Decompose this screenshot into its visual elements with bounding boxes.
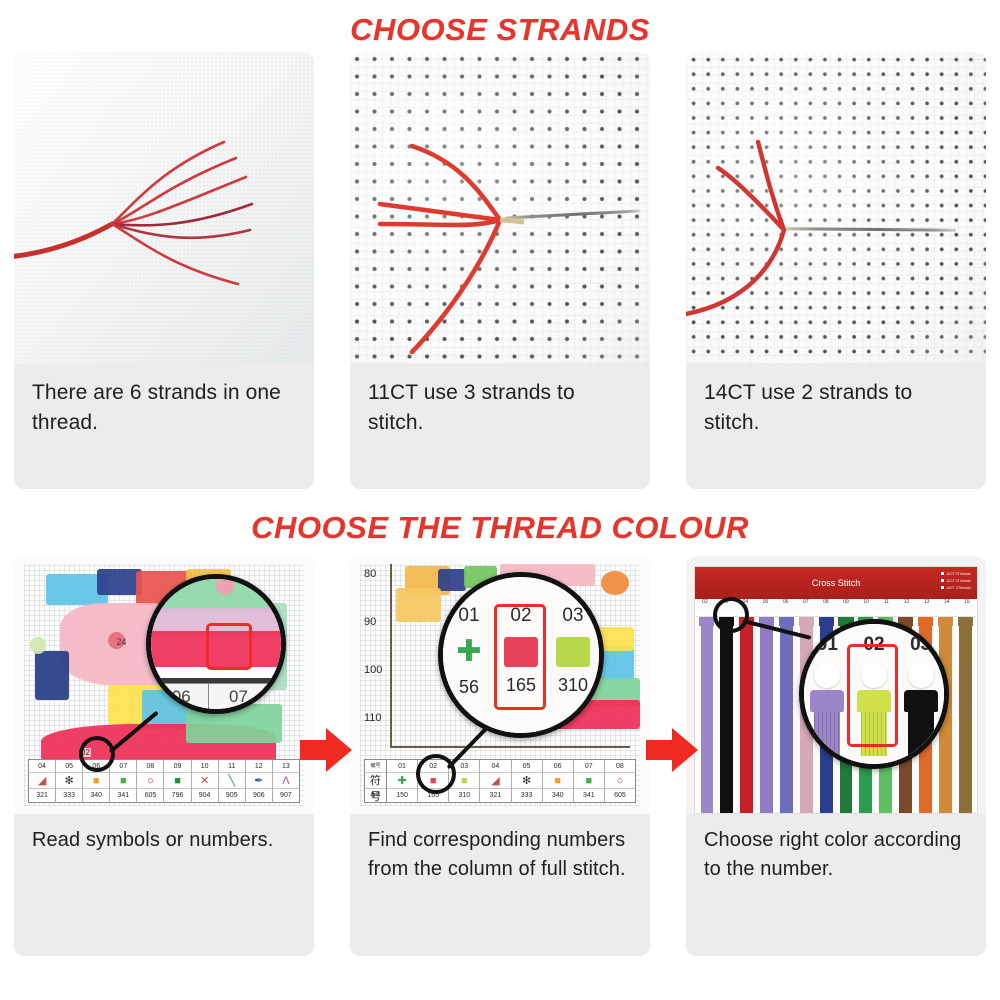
legend-dmc-code: 906	[246, 789, 272, 802]
legend-dmc-code: 333	[56, 789, 82, 802]
legend-number: 08	[137, 760, 163, 773]
magnified-label-07: 07	[229, 687, 248, 707]
legend-symbol: ■	[164, 773, 190, 789]
thread-organizer-photo: Cross Stitch 11CT 3Threads11CT 3Threads1…	[686, 556, 986, 814]
organizer-skein[interactable]	[698, 610, 717, 813]
magnifier-target-ring	[416, 754, 456, 794]
legend-column[interactable]: 04◢321	[480, 760, 511, 802]
organizer-legend-swatch	[941, 572, 944, 575]
legend-dmc-code: 333	[512, 789, 542, 802]
magnified-skein-number: 01	[804, 634, 851, 656]
magnified-legend-column[interactable]: 01✚56	[443, 599, 495, 733]
photo-thread-organizer-with-magnifier: Cross Stitch 11CT 3Threads11CT 3Threads1…	[686, 556, 986, 814]
legend-column[interactable]: 13Λ907	[273, 760, 299, 802]
legend-symbol: ◢	[480, 773, 510, 789]
organizer-skein-number[interactable]: 14	[937, 599, 957, 610]
legend-dmc-code: 341	[574, 789, 604, 802]
magnified-skein-number: 03	[897, 634, 944, 656]
magnified-skein-peg	[908, 662, 934, 688]
legend-row-headers: 编号符号色号	[365, 760, 387, 802]
legend-dmc-code: 605	[605, 789, 635, 802]
legend-column[interactable]: 08○605	[605, 760, 635, 802]
skein-threads	[760, 623, 773, 813]
photo-pattern-chart-with-magnifier: 24 02 04◢32105✻33306■34007■34108○60509■7…	[14, 556, 314, 814]
pattern-chart-photo: 24 02 04◢32105✻33306■34007■34108○60509■7…	[14, 556, 314, 814]
thread-organizer-card: Cross Stitch 11CT 3Threads11CT 3Threads1…	[694, 566, 978, 814]
organizer-legend-item: 11CT 3Threads	[941, 578, 971, 585]
magnifier-highlight-box	[206, 623, 253, 670]
legend-dmc-code: 321	[480, 789, 510, 802]
legend-column[interactable]: 06■340	[543, 760, 574, 802]
legend-dmc-code: 907	[273, 789, 299, 802]
legend-symbol: ✻	[56, 773, 82, 789]
photo-two-strands-needle-14ct-aida	[686, 52, 986, 364]
magnified-legend-symbol	[556, 637, 590, 667]
photo-three-strands-needle-11ct-aida	[350, 52, 650, 364]
chart-row-label: 110	[364, 712, 382, 724]
magnified-skein-threads	[814, 712, 840, 756]
organizer-skein-number[interactable]: 12	[896, 599, 916, 610]
card-find-numbers: 8090100110 编号符号色号01✚15002■16503■31004◢32…	[350, 556, 650, 956]
magnified-legend-number: 03	[547, 605, 599, 627]
photo-six-strands-on-plain-fabric	[14, 52, 314, 364]
legend-symbol: ■	[543, 773, 573, 789]
legend-symbol: ◢	[29, 773, 55, 789]
magnified-label-06: 06	[172, 687, 191, 707]
legend-column[interactable]: 04◢321	[29, 760, 56, 802]
magnified-legend-code: 56	[443, 677, 495, 698]
skein-threads	[701, 623, 714, 813]
organizer-legend-swatch	[941, 586, 944, 589]
organizer-skein[interactable]	[717, 610, 736, 813]
magnifier-target-ring	[79, 736, 115, 772]
photo-chart-legend-column-magnifier: 8090100110 编号符号色号01✚15002■16503■31004◢32…	[350, 556, 650, 814]
legend-number: 09	[164, 760, 190, 773]
organizer-skein[interactable]	[757, 610, 776, 813]
skein-threads	[740, 623, 753, 813]
organizer-skein-number[interactable]: 10	[856, 599, 876, 610]
legend-column[interactable]: 11╲905	[219, 760, 246, 802]
magnifier-target-ring	[713, 597, 749, 633]
organizer-skein-number[interactable]: 07	[796, 599, 816, 610]
caption-14ct: 14CT use 2 strands to stitch.	[686, 364, 986, 489]
legend-column[interactable]: 05✻333	[512, 760, 543, 802]
pattern-chart-canvas: 24 02 04◢32105✻33306■34007■34108○60509■7…	[24, 564, 304, 806]
legend-number: 10	[192, 760, 218, 773]
legend-symbol: ✕	[192, 773, 218, 789]
legend-number: 12	[246, 760, 272, 773]
magnified-skein-column[interactable]: 01	[804, 624, 851, 764]
caption-read-symbols: Read symbols or numbers.	[14, 814, 314, 956]
magnified-legend-symbol: ✚	[443, 635, 495, 669]
legend-number: 01	[387, 760, 417, 773]
legend-symbol: ■	[83, 773, 109, 789]
legend-column[interactable]: 09■796	[164, 760, 191, 802]
legend-column[interactable]: 12✒906	[246, 760, 273, 802]
legend-dmc-code: 150	[387, 789, 417, 802]
legend-number: 07	[574, 760, 604, 773]
caption-six-strands: There are 6 strands in one thread.	[14, 364, 314, 489]
legend-dmc-code: 796	[164, 789, 190, 802]
legend-dmc-code: 310	[449, 789, 479, 802]
chart-legend-table: 编号符号色号01✚15002■16503■31004◢32105✻33306■3…	[364, 759, 636, 803]
chart-axis-line	[390, 564, 392, 748]
legend-column[interactable]: 07■341	[574, 760, 605, 802]
arrow-right-icon	[646, 728, 698, 772]
magnifier-highlight-box	[494, 604, 545, 710]
chart-axis-line-horizontal	[390, 746, 630, 748]
chart-row-label: 80	[364, 568, 376, 580]
caption-text: Find corresponding numbers from the colu…	[368, 829, 626, 880]
legend-symbol: ○	[605, 773, 635, 789]
caption-find-numbers: Find corresponding numbers from the colu…	[350, 814, 650, 956]
legend-number: 07	[110, 760, 136, 773]
magnified-legend-number: 01	[443, 605, 495, 627]
legend-number: 08	[605, 760, 635, 773]
organizer-skein-number[interactable]: 09	[836, 599, 856, 610]
legend-symbol: ✚	[387, 773, 417, 789]
legend-number: 11	[219, 760, 245, 773]
organizer-skein-number[interactable]: 15	[957, 599, 977, 610]
organizer-skein[interactable]	[956, 610, 975, 813]
organizer-legend-list: 11CT 3Threads11CT 3Threads14CT 2Threads	[941, 571, 971, 591]
caption-choose-colour: Choose right color according to the numb…	[686, 814, 986, 956]
arrow-right-icon	[300, 728, 352, 772]
legend-dmc-code: 340	[543, 789, 573, 802]
legend-symbol: ✒	[246, 773, 272, 789]
magnifier-lens: 010203	[799, 619, 949, 769]
legend-column[interactable]: 07■341	[110, 760, 137, 802]
organizer-skein-number[interactable]: 06	[776, 599, 796, 610]
card-11ct-three-strands: 11CT use 3 strands to stitch.	[350, 52, 650, 489]
card-read-symbols: 24 02 04◢32105✻33306■34007■34108○60509■7…	[14, 556, 314, 956]
legend-column[interactable]: 01✚150	[387, 760, 418, 802]
organizer-title: Cross Stitch	[812, 578, 861, 588]
organizer-legend-item: 14CT 2Threads	[941, 585, 971, 592]
six-strand-thread-illustration	[14, 52, 314, 364]
legend-number: 04	[480, 760, 510, 773]
caption-text: Choose right color according to the numb…	[704, 829, 961, 880]
magnified-skein-threads	[908, 712, 934, 756]
legend-symbol: Λ	[273, 773, 299, 789]
legend-dmc-code: 605	[137, 789, 163, 802]
legend-number: 05	[512, 760, 542, 773]
magnifier-highlight-box	[847, 644, 897, 748]
organizer-skein-number[interactable]: 05	[755, 599, 775, 610]
thread-colour-card-row: 24 02 04◢32105✻33306■34007■34108○60509■7…	[0, 556, 1000, 960]
organizer-skein[interactable]	[737, 610, 756, 813]
skein-threads	[959, 623, 972, 813]
organizer-legend-item: 11CT 3Threads	[941, 571, 971, 578]
legend-symbol: ■	[574, 773, 604, 789]
caption-text: 14CT use 2 strands to stitch.	[704, 381, 912, 434]
legend-symbol: ○	[137, 773, 163, 789]
legend-column[interactable]: 10✕904	[192, 760, 219, 802]
chart-legend-photo: 8090100110 编号符号色号01✚15002■16503■31004◢32…	[350, 556, 650, 814]
magnified-skein-knot	[904, 690, 938, 712]
legend-symbol: ■	[110, 773, 136, 789]
magnified-legend-code: 310	[547, 675, 599, 696]
organizer-skein-number[interactable]: 13	[917, 599, 937, 610]
organizer-legend-swatch	[941, 579, 944, 582]
caption-text: Read symbols or numbers.	[32, 829, 273, 851]
legend-row-header: 编号	[365, 760, 386, 773]
legend-column[interactable]: 08○605	[137, 760, 164, 802]
chart-cell-label-24: 24	[116, 637, 126, 647]
magnified-legend-column[interactable]: 03310	[547, 599, 599, 733]
chart-row-label: 100	[364, 664, 382, 676]
legend-dmc-code: 905	[219, 789, 245, 802]
organizer-skein-number[interactable]: 08	[816, 599, 836, 610]
organizer-skein-number[interactable]: 02	[695, 599, 715, 610]
card-choose-colour: Cross Stitch 11CT 3Threads11CT 3Threads1…	[686, 556, 986, 956]
legend-dmc-code: 904	[192, 789, 218, 802]
legend-row-header: 符号	[365, 773, 386, 789]
chart-legend-table: 04◢32105✻33306■34007■34108○60509■79610✕9…	[28, 759, 300, 803]
magnifier-lens: 01✚560216503310	[438, 572, 604, 738]
chart-legend-canvas: 8090100110 编号符号色号01✚15002■16503■31004◢32…	[360, 564, 640, 806]
magnified-skein-peg	[814, 662, 840, 688]
strands-card-row: There are 6 strands in one thread.	[0, 52, 1000, 494]
legend-row-header: 色号	[365, 789, 386, 802]
organizer-skein[interactable]	[777, 610, 796, 813]
magnified-skein-knot	[810, 690, 844, 712]
page-title-choose-strands: CHOOSE STRANDS	[0, 0, 1000, 52]
legend-number: 04	[29, 760, 55, 773]
page-title-choose-thread-colour: CHOOSE THE THREAD COLOUR	[0, 500, 1000, 556]
magnified-skein-column[interactable]: 03	[897, 624, 944, 764]
card-six-strands: There are 6 strands in one thread.	[14, 52, 314, 489]
organizer-skein-number[interactable]: 11	[876, 599, 896, 610]
legend-symbol: ✻	[512, 773, 542, 789]
legend-column[interactable]: 05✻333	[56, 760, 83, 802]
magnifier-lens: 06 07	[146, 574, 286, 714]
legend-number: 05	[56, 760, 82, 773]
legend-dmc-code: 321	[29, 789, 55, 802]
legend-symbol: ╲	[219, 773, 245, 789]
chart-row-label: 90	[364, 616, 376, 628]
legend-dmc-code: 340	[83, 789, 109, 802]
card-14ct-two-strands: 14CT use 2 strands to stitch.	[686, 52, 986, 489]
skein-threads	[720, 623, 733, 813]
three-strand-thread-illustration	[350, 52, 650, 364]
legend-number: 06	[543, 760, 573, 773]
legend-number: 13	[273, 760, 299, 773]
two-strand-thread-illustration	[686, 52, 986, 364]
skein-threads	[780, 623, 793, 813]
legend-dmc-code: 341	[110, 789, 136, 802]
caption-11ct: 11CT use 3 strands to stitch.	[350, 364, 650, 489]
caption-text: There are 6 strands in one thread.	[32, 381, 281, 434]
organizer-header: Cross Stitch 11CT 3Threads11CT 3Threads1…	[695, 567, 977, 599]
caption-text: 11CT use 3 strands to stitch.	[368, 381, 575, 434]
